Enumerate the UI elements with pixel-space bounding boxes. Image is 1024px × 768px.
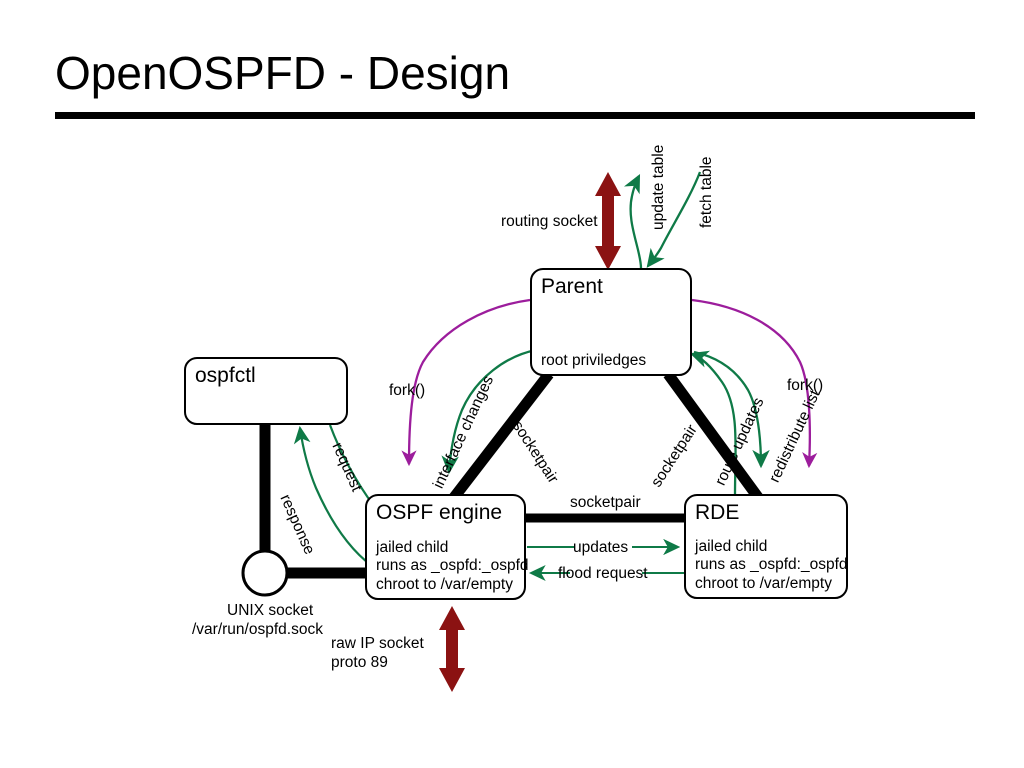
label-routing-socket: routing socket — [501, 213, 598, 232]
edge-update-table — [631, 176, 641, 268]
routing-socket-arrow — [595, 172, 621, 270]
node-parent[interactable]: Parent root priviledges — [530, 268, 692, 376]
slide-canvas: OpenOSPFD - Design — [0, 0, 1024, 768]
node-ospfctl[interactable]: ospfctl — [184, 357, 348, 425]
node-ospfctl-title: ospfctl — [195, 363, 337, 388]
label-raw-ip-line-2: proto 89 — [331, 654, 388, 673]
node-rde-title: RDE — [695, 500, 837, 525]
node-rde-details: jailed child runs as _ospfd:_ospfd chroo… — [695, 538, 848, 594]
node-ospf-engine-line-3: chroot to /var/empty — [376, 576, 529, 595]
raw-ip-socket-arrow — [439, 606, 465, 692]
node-ospf-engine-title: OSPF engine — [376, 500, 515, 525]
node-ospf-engine-line-1: jailed child — [376, 539, 529, 558]
label-flood-request: flood request — [558, 565, 648, 584]
label-socketpair-engine-rde: socketpair — [570, 494, 641, 513]
node-rde[interactable]: RDE jailed child runs as _ospfd:_ospfd c… — [684, 494, 848, 599]
node-parent-title: Parent — [541, 274, 681, 299]
node-ospf-engine-details: jailed child runs as _ospfd:_ospfd chroo… — [376, 539, 529, 595]
node-ospf-engine[interactable]: OSPF engine jailed child runs as _ospfd:… — [365, 494, 526, 600]
architecture-diagram — [0, 0, 1024, 768]
node-parent-details: root priviledges — [541, 352, 646, 371]
unix-socket-node — [243, 551, 287, 595]
node-rde-line-2: runs as _ospfd:_ospfd — [695, 556, 848, 575]
node-rde-line-1: jailed child — [695, 538, 848, 557]
node-ospf-engine-line-2: runs as _ospfd:_ospfd — [376, 557, 529, 576]
label-updates: updates — [573, 539, 628, 558]
label-unix-socket-line-1: UNIX socket — [227, 602, 313, 621]
label-unix-socket-line-2: /var/run/ospfd.sock — [192, 621, 323, 640]
label-update-table: update table — [650, 145, 669, 230]
label-fork-engine: fork() — [389, 382, 425, 401]
node-rde-line-3: chroot to /var/empty — [695, 575, 848, 594]
node-parent-line-1: root priviledges — [541, 352, 646, 371]
label-fetch-table: fetch table — [698, 156, 717, 228]
label-raw-ip-line-1: raw IP socket — [331, 635, 424, 654]
